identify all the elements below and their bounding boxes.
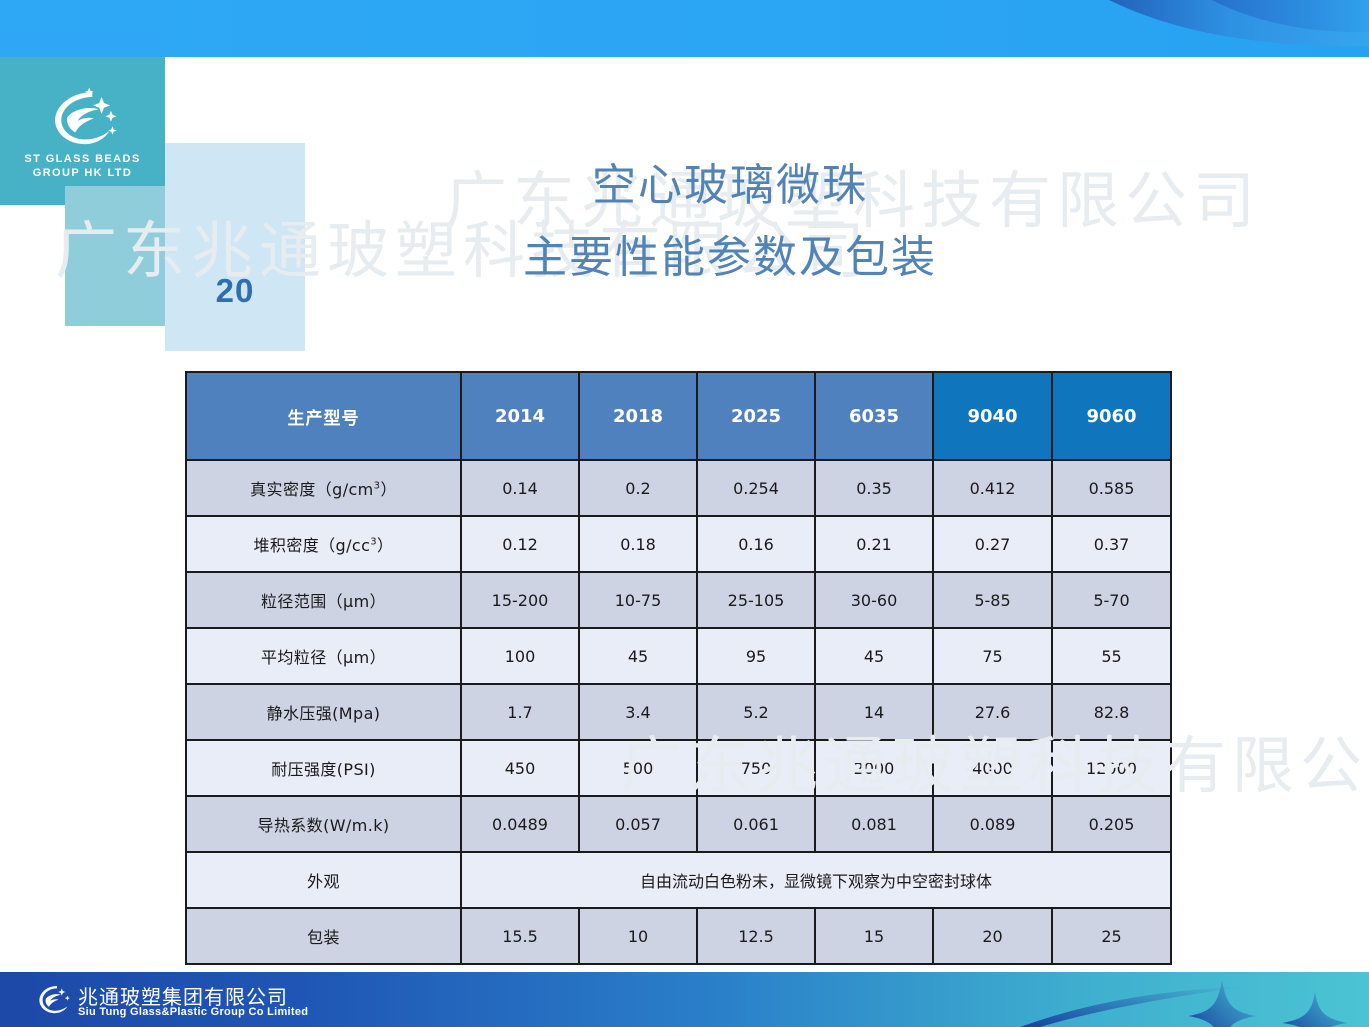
- cell: 12000: [1052, 740, 1171, 796]
- row-label-crush-strength: 耐压强度(PSI): [186, 740, 461, 796]
- cell: 0.585: [1052, 460, 1171, 516]
- cell: 750: [697, 740, 815, 796]
- page-title-line2: 主要性能参数及包装: [340, 222, 1120, 294]
- table-header-row: 生产型号 2014 2018 2025 6035 9040 9060: [186, 372, 1171, 460]
- cell: 5-70: [1052, 572, 1171, 628]
- cell: 450: [461, 740, 579, 796]
- cell: 0.089: [933, 796, 1052, 852]
- cell: 0.0489: [461, 796, 579, 852]
- table-row: 耐压强度(PSI) 450 500 750 2000 4000 12000: [186, 740, 1171, 796]
- table-row: 粒径范围（μm） 15-200 10-75 25-105 30-60 5-85 …: [186, 572, 1171, 628]
- cell: 25: [1052, 908, 1171, 964]
- cell: 0.18: [579, 516, 697, 572]
- cell: 0.27: [933, 516, 1052, 572]
- table-row: 静水压强(Mpa) 1.7 3.4 5.2 14 27.6 82.8: [186, 684, 1171, 740]
- cell: 0.081: [815, 796, 933, 852]
- cell: 10: [579, 908, 697, 964]
- company-logo-block: ST GLASS BEADS GROUP HK LTD: [0, 57, 165, 205]
- col-header-2014: 2014: [461, 372, 579, 460]
- footer-company-en: Siu Tung Glass&Plastic Group Co Limited: [78, 1006, 308, 1018]
- table-row: 包装 15.5 10 12.5 15 20 25: [186, 908, 1171, 964]
- table-row: 堆积密度（g/cc3） 0.12 0.18 0.16 0.21 0.27 0.3…: [186, 516, 1171, 572]
- cell: 0.057: [579, 796, 697, 852]
- crescent-sparkle-logo-icon: [44, 86, 122, 148]
- row-label-true-density: 真实密度（g/cm3）: [186, 460, 461, 516]
- table-row: 真实密度（g/cm3） 0.14 0.2 0.254 0.35 0.412 0.…: [186, 460, 1171, 516]
- col-header-9040: 9040: [933, 372, 1052, 460]
- col-header-model: 生产型号: [186, 372, 461, 460]
- table-body: 真实密度（g/cm3） 0.14 0.2 0.254 0.35 0.412 0.…: [186, 460, 1171, 964]
- cell: 15-200: [461, 572, 579, 628]
- cell: 45: [815, 628, 933, 684]
- cell: 25-105: [697, 572, 815, 628]
- cell: 15: [815, 908, 933, 964]
- top-band-swoosh-icon: [0, 0, 1369, 57]
- cell: 0.21: [815, 516, 933, 572]
- cell: 2000: [815, 740, 933, 796]
- row-label-bulk-density: 堆积密度（g/cc3）: [186, 516, 461, 572]
- col-header-6035: 6035: [815, 372, 933, 460]
- logo-text: ST GLASS BEADS GROUP HK LTD: [24, 152, 140, 180]
- table-row: 导热系数(W/m.k) 0.0489 0.057 0.061 0.081 0.0…: [186, 796, 1171, 852]
- cell: 0.2: [579, 460, 697, 516]
- cell: 0.14: [461, 460, 579, 516]
- cell: 5-85: [933, 572, 1052, 628]
- cell: 100: [461, 628, 579, 684]
- cell: 95: [697, 628, 815, 684]
- specification-table: 生产型号 2014 2018 2025 6035 9040 9060 真实密度（…: [185, 371, 1172, 965]
- footer-crescent-sparkle-logo-icon: [33, 982, 73, 1018]
- cell: 4000: [933, 740, 1052, 796]
- table-row-appearance: 外观 自由流动白色粉末，显微镜下观察为中空密封球体: [186, 852, 1171, 908]
- cell: 0.061: [697, 796, 815, 852]
- table-row: 平均粒径（μm） 100 45 95 45 75 55: [186, 628, 1171, 684]
- cell: 12.5: [697, 908, 815, 964]
- spec-table-wrapper: 生产型号 2014 2018 2025 6035 9040 9060 真实密度（…: [185, 371, 1170, 965]
- row-label-appearance: 外观: [186, 852, 461, 908]
- cell: 15.5: [461, 908, 579, 964]
- cell: 82.8: [1052, 684, 1171, 740]
- cell: 0.35: [815, 460, 933, 516]
- cell: 5.2: [697, 684, 815, 740]
- col-header-2018: 2018: [579, 372, 697, 460]
- cell: 75: [933, 628, 1052, 684]
- cell: 0.12: [461, 516, 579, 572]
- row-label-thermal-conductivity: 导热系数(W/m.k): [186, 796, 461, 852]
- cell: 45: [579, 628, 697, 684]
- cell-appearance-merged: 自由流动白色粉末，显微镜下观察为中空密封球体: [461, 852, 1171, 908]
- cell: 500: [579, 740, 697, 796]
- row-label-hydrostatic: 静水压强(Mpa): [186, 684, 461, 740]
- cell: 10-75: [579, 572, 697, 628]
- col-header-9060: 9060: [1052, 372, 1171, 460]
- page-title-line1: 空心玻璃微珠: [340, 150, 1120, 222]
- cell: 3.4: [579, 684, 697, 740]
- decorative-square-teal: [65, 186, 165, 326]
- logo-text-line1: ST GLASS BEADS: [24, 152, 140, 166]
- cell: 55: [1052, 628, 1171, 684]
- cell: 0.37: [1052, 516, 1171, 572]
- cell: 30-60: [815, 572, 933, 628]
- top-decoration-band: [0, 0, 1369, 57]
- cell: 1.7: [461, 684, 579, 740]
- col-header-2025: 2025: [697, 372, 815, 460]
- cell: 20: [933, 908, 1052, 964]
- cell: 0.205: [1052, 796, 1171, 852]
- logo-text-line2: GROUP HK LTD: [24, 166, 140, 180]
- cell: 0.254: [697, 460, 815, 516]
- cell: 27.6: [933, 684, 1052, 740]
- row-label-avg-particle: 平均粒径（μm）: [186, 628, 461, 684]
- page-title: 空心玻璃微珠 主要性能参数及包装: [340, 150, 1120, 294]
- cell: 0.412: [933, 460, 1052, 516]
- decorative-square-blue: [165, 143, 305, 351]
- row-label-particle-range: 粒径范围（μm）: [186, 572, 461, 628]
- row-label-packaging: 包装: [186, 908, 461, 964]
- page-number: 20: [165, 272, 305, 310]
- cell: 14: [815, 684, 933, 740]
- cell: 0.16: [697, 516, 815, 572]
